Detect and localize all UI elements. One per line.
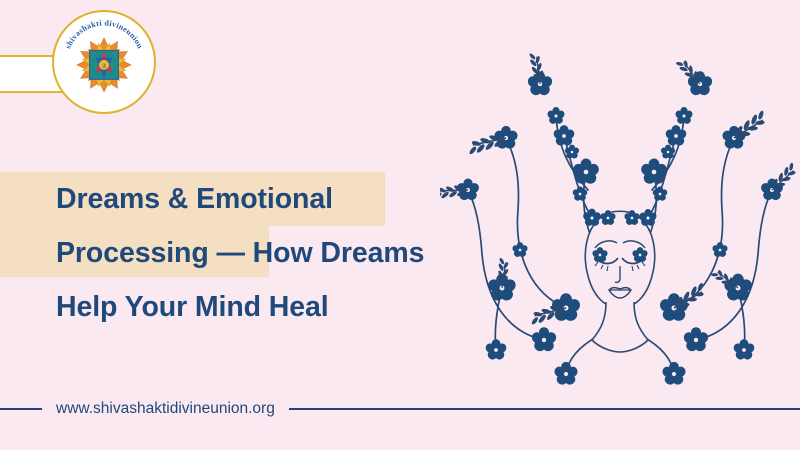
banner-canvas: shivashakti divineunion bbox=[0, 0, 800, 450]
woman-face bbox=[585, 211, 654, 352]
title-line-3: Help Your Mind Heal bbox=[56, 280, 526, 334]
title-line-1: Dreams & Emotional bbox=[56, 172, 526, 226]
page-title: Dreams & Emotional Processing — How Drea… bbox=[56, 172, 526, 334]
mandala-yantra-icon: shivashakti divineunion bbox=[54, 12, 154, 112]
footer-url-bar: www.shivashaktidivineunion.org bbox=[0, 397, 800, 421]
yantra-glyph: उ bbox=[102, 63, 106, 70]
website-url[interactable]: www.shivashaktidivineunion.org bbox=[42, 400, 289, 418]
title-line-2: Processing — How Dreams bbox=[56, 226, 526, 280]
footer-rule-right bbox=[289, 408, 800, 410]
brand-logo[interactable]: shivashakti divineunion bbox=[52, 10, 156, 114]
footer-rule-left bbox=[0, 408, 42, 410]
